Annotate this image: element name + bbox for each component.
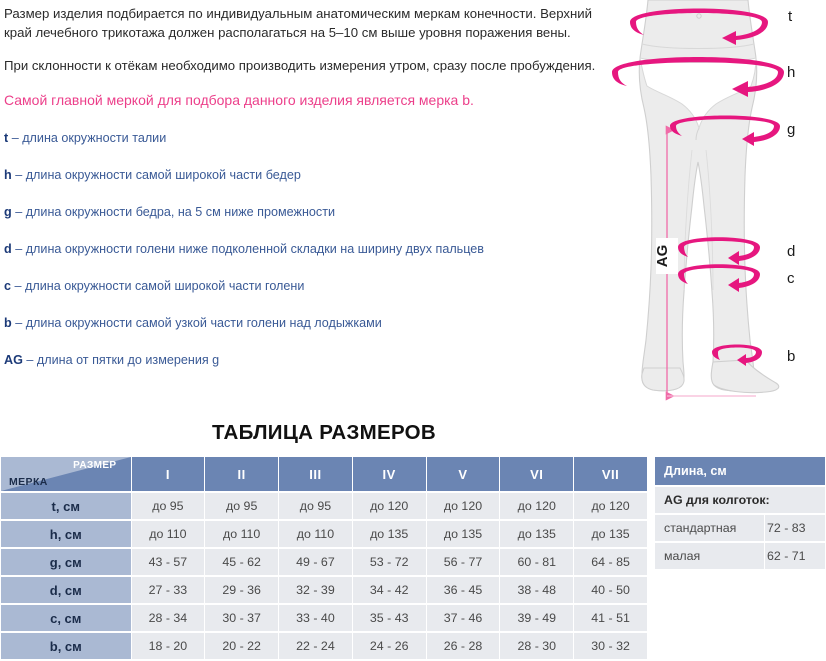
length-row: малая 62 - 71 (655, 543, 825, 569)
cell-t-2: до 95 (205, 493, 278, 519)
legend-key-h: h (4, 168, 12, 182)
legend-desc-t: – длина окружности талии (12, 131, 167, 145)
column-header-4: IV (353, 457, 426, 491)
cell-d-2: 29 - 36 (205, 577, 278, 603)
table-header-row: РАЗМЕР МЕРКА I II III IV V VI VII (1, 457, 647, 491)
cell-t-4: до 120 (353, 493, 426, 519)
length-name-standard: стандартная (655, 515, 764, 541)
row-label-g: g, см (1, 549, 131, 575)
legend-item-h: h – длина окружности самой широкой части… (4, 167, 610, 184)
cell-h-7: до 135 (574, 521, 647, 547)
cell-d-3: 32 - 39 (279, 577, 352, 603)
legend-key-c: c (4, 279, 11, 293)
intro-paragraph-2: При склонности к отёкам необходимо произ… (4, 56, 610, 75)
cell-b-2: 20 - 22 (205, 633, 278, 659)
row-label-h: h, см (1, 521, 131, 547)
cell-c-4: 35 - 43 (353, 605, 426, 631)
cell-c-6: 39 - 49 (500, 605, 573, 631)
legend-item-c: c – длина окружности самой широкой части… (4, 278, 610, 295)
length-value-small: 62 - 71 (765, 543, 825, 569)
figure-label-g: g (787, 121, 795, 138)
figure-label-h: h (787, 64, 795, 81)
corner-label-merka: МЕРКА (9, 476, 48, 488)
length-table-subtitle: AG для колготок: (655, 487, 825, 513)
cell-g-3: 49 - 67 (279, 549, 352, 575)
cell-c-7: 41 - 51 (574, 605, 647, 631)
cell-h-3: до 110 (279, 521, 352, 547)
cell-b-6: 28 - 30 (500, 633, 573, 659)
column-header-5: V (427, 457, 500, 491)
cell-h-6: до 135 (500, 521, 573, 547)
instructions-text-column: Размер изделия подбирается по индивидуал… (4, 4, 610, 389)
column-header-6: VI (500, 457, 573, 491)
cell-h-1: до 110 (132, 521, 205, 547)
legend-item-b: b – длина окружности самой узкой части г… (4, 315, 610, 332)
cell-d-5: 36 - 45 (427, 577, 500, 603)
ag-label: AG (654, 245, 671, 268)
cell-b-4: 24 - 26 (353, 633, 426, 659)
column-header-3: III (279, 457, 352, 491)
cell-g-2: 45 - 62 (205, 549, 278, 575)
length-subtitle-row: AG для колготок: (655, 487, 825, 513)
cell-h-2: до 110 (205, 521, 278, 547)
cell-d-4: 34 - 42 (353, 577, 426, 603)
cell-b-7: 30 - 32 (574, 633, 647, 659)
figure-label-t: t (788, 8, 793, 25)
legend-item-g: g – длина окружности бедра, на 5 см ниже… (4, 204, 610, 221)
legend-desc-ag: – длина от пятки до измерения g (26, 353, 219, 367)
table-row: b, см 18 - 20 20 - 22 22 - 24 24 - 26 26… (1, 633, 647, 659)
table-row: d, см 27 - 33 29 - 36 32 - 39 34 - 42 36… (1, 577, 647, 603)
instructions-and-figure-area: Размер изделия подбирается по индивидуал… (0, 0, 826, 415)
cell-h-4: до 135 (353, 521, 426, 547)
legend-key-ag: AG (4, 353, 23, 367)
measurement-figure: AG (596, 0, 826, 415)
column-header-7: VII (574, 457, 647, 491)
length-row: стандартная 72 - 83 (655, 515, 825, 541)
legend-desc-h: – длина окружности самой широкой части б… (15, 168, 301, 182)
cell-c-2: 30 - 37 (205, 605, 278, 631)
length-table: Длина, см AG для колготок: стандартная 7… (654, 455, 826, 571)
cell-t-7: до 120 (574, 493, 647, 519)
cell-d-1: 27 - 33 (132, 577, 205, 603)
cell-t-6: до 120 (500, 493, 573, 519)
length-value-standard: 72 - 83 (765, 515, 825, 541)
length-header-row: Длина, см (655, 457, 825, 485)
legend-key-b: b (4, 316, 12, 330)
cell-g-1: 43 - 57 (132, 549, 205, 575)
cell-d-6: 38 - 48 (500, 577, 573, 603)
page-title: ТАБЛИЦА РАЗМЕРОВ (0, 421, 648, 445)
cell-b-1: 18 - 20 (132, 633, 205, 659)
legend-desc-b: – длина окружности самой узкой части гол… (15, 316, 382, 330)
legend-item-d: d – длина окружности голени ниже подколе… (4, 241, 610, 258)
highlight-note: Самой главной меркой для подбора данного… (4, 91, 610, 110)
corner-label-razmer: РАЗМЕР (73, 460, 116, 471)
cell-g-7: 64 - 85 (574, 549, 647, 575)
cell-c-1: 28 - 34 (132, 605, 205, 631)
cell-d-7: 40 - 50 (574, 577, 647, 603)
legend-key-t: t (4, 131, 8, 145)
row-label-t: t, см (1, 493, 131, 519)
cell-c-5: 37 - 46 (427, 605, 500, 631)
cell-c-3: 33 - 40 (279, 605, 352, 631)
cell-g-5: 56 - 77 (427, 549, 500, 575)
table-row: t, см до 95 до 95 до 95 до 120 до 120 до… (1, 493, 647, 519)
cell-g-4: 53 - 72 (353, 549, 426, 575)
row-label-c: c, см (1, 605, 131, 631)
legend-item-ag: AG – длина от пятки до измерения g (4, 352, 610, 369)
cell-b-5: 26 - 28 (427, 633, 500, 659)
legend-key-d: d (4, 242, 12, 256)
legend-desc-g: – длина окружности бедра, на 5 см ниже п… (15, 205, 335, 219)
row-label-d: d, см (1, 577, 131, 603)
legend-key-g: g (4, 205, 12, 219)
column-header-1: I (132, 457, 205, 491)
legend-desc-c: – длина окружности самой широкой части г… (15, 279, 305, 293)
table-row: g, см 43 - 57 45 - 62 49 - 67 53 - 72 56… (1, 549, 647, 575)
length-table-header: Длина, см (655, 457, 825, 485)
figure-label-d: d (787, 243, 795, 260)
cell-t-5: до 120 (427, 493, 500, 519)
cell-g-6: 60 - 81 (500, 549, 573, 575)
figure-label-c: c (787, 270, 795, 287)
table-row: h, см до 110 до 110 до 110 до 135 до 135… (1, 521, 647, 547)
cell-h-5: до 135 (427, 521, 500, 547)
column-header-2: II (205, 457, 278, 491)
legend-item-t: t – длина окружности талии (4, 130, 610, 147)
cell-t-3: до 95 (279, 493, 352, 519)
cell-b-3: 22 - 24 (279, 633, 352, 659)
cell-t-1: до 95 (132, 493, 205, 519)
row-label-b: b, см (1, 633, 131, 659)
intro-paragraph-1: Размер изделия подбирается по индивидуал… (4, 4, 610, 42)
length-name-small: малая (655, 543, 764, 569)
legend-desc-d: – длина окружности голени ниже подколенн… (15, 242, 484, 256)
table-row: c, см 28 - 34 30 - 37 33 - 40 35 - 43 37… (1, 605, 647, 631)
figure-label-b: b (787, 348, 795, 365)
corner-header-cell: РАЗМЕР МЕРКА (1, 457, 131, 491)
size-table: РАЗМЕР МЕРКА I II III IV V VI VII t, см … (0, 455, 648, 661)
